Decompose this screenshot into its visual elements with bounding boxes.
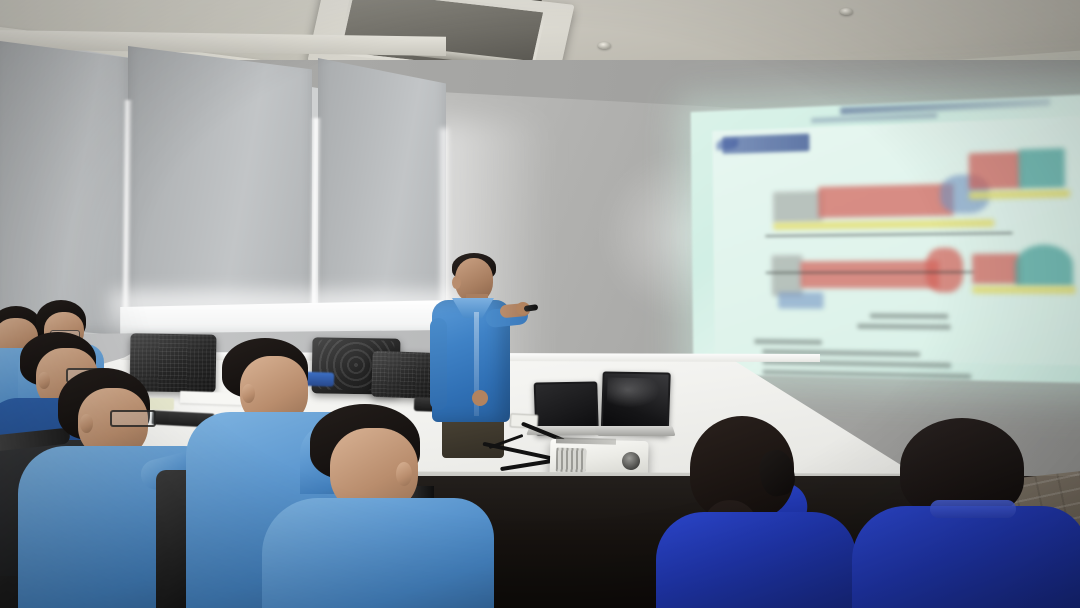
slide-diagram-part [925,248,963,293]
laptop-base[interactable] [594,426,675,436]
attendee-torso [656,512,856,608]
attendee-glasses [110,410,156,427]
attendee-jacket-collar [930,500,1016,518]
slide-body [712,117,1080,366]
presenter-ear [452,276,461,289]
slide-diagram-part [972,254,1020,284]
slide-text-line [754,339,822,345]
attendee-ear [242,384,255,403]
presenter-left-arm [430,318,447,410]
attendee-torso [852,506,1080,608]
sprinkler-head-icon [840,8,853,15]
slide-caption-line [870,313,948,319]
attendee-ear [80,414,93,433]
projected-slide [691,93,1080,383]
slide-diagram-part [818,184,954,218]
sprinkler-head-icon [598,42,611,49]
conference-room-photo [0,0,1080,608]
slide-diagram-part [773,191,823,223]
attendee-ear [38,372,50,389]
projector-vent [556,448,587,473]
attendee-torso [262,498,494,608]
slide-diagram-part [800,261,939,289]
slide-diagram-part [972,286,1075,294]
presenter-left-hand [472,390,488,406]
slide-diagram-part [772,255,803,296]
roller-blind[interactable] [0,40,128,336]
slide-diagram-axis [765,232,1012,237]
slide-diagram-part [969,152,1021,190]
attendee-ear [396,462,412,486]
slide-diagram-part [1015,244,1073,286]
slide-logo [722,134,809,154]
slide-caption-line [857,324,950,330]
slide-header-subtitle [811,113,937,123]
slide-diagram-part [778,292,823,309]
laptop-screen-glare [607,377,660,409]
slide-diagram-part [969,190,1070,200]
slide-diagram-part [1018,148,1065,188]
